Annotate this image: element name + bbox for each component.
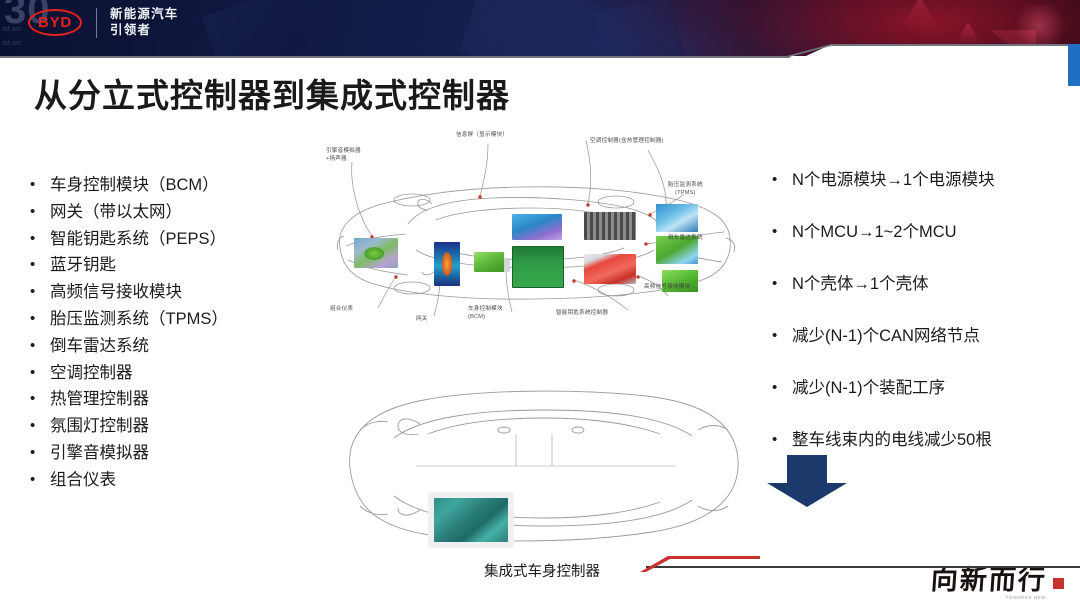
component-chip-integrated-controller [434,498,508,542]
banner-triangle-decor [955,22,981,44]
list-item: •车身控制模块（BCM） [30,172,320,199]
blue-accent-tab [1068,44,1080,86]
label-bcm: 车身控制模块 (BCM) [468,306,503,321]
bullet-glyph: • [30,306,50,333]
bullet-glyph: • [772,326,792,346]
bullet-glyph: • [772,170,792,190]
bullet-glyph: • [30,333,50,360]
bullet-glyph: • [772,222,792,242]
component-chip-tpms [656,204,698,232]
list-item-label: 蓝牙钥匙 [50,252,116,279]
list-item-label: 倒车雷达系统 [50,333,149,360]
component-chip-bcm [512,246,564,288]
bullet-glyph: • [30,386,50,413]
label-hvac-prefix: 空调控制器( [590,138,621,144]
bullet-glyph: • [30,440,50,467]
right-bullet-list: •N个电源模块→1个电源模块 •N个MCU→1~2个MCU •N个壳体→1个壳体… [772,170,1072,482]
list-item-label: 车身控制模块（BCM） [50,172,219,199]
list-item-label: 引擎音模拟器 [50,440,149,467]
bullet-glyph: • [30,199,50,226]
component-chip-peps [584,254,636,284]
transformation-arrow-icon [765,455,849,507]
component-chip-cluster [434,242,460,286]
footer-brand-subtext: TOWARDS NEW [1006,595,1046,600]
list-item: •高频信号接收模块 [30,279,320,306]
label-hvac-thermal: 含热管理控制器 [621,138,662,144]
list-item-label: 组合仪表 [50,467,116,494]
list-item: •热管理控制器 [30,386,320,413]
footer-brand-text: 向新而行 [930,558,1049,597]
list-item: •减少(N-1)个CAN网络节点 [772,326,1072,346]
list-item: •智能钥匙系统（PEPS） [30,226,320,253]
architecture-diagram: 引擎音模拟器 +扬声器 信息屏（显示模块） 空调控制器(含热管理控制器) 胎压监… [316,120,768,580]
list-item-label: 网关（带以太网） [50,199,182,226]
label-engine-sound: 引擎音模拟器 +扬声器 [326,148,361,163]
label-cluster: 组合仪表 [330,306,353,314]
list-item: •组合仪表 [30,467,320,494]
list-item-label: 高频信号接收模块 [50,279,182,306]
list-item: •倒车雷达系统 [30,333,320,360]
header-rule-diagonal [786,44,838,57]
component-chip-engine-sound [354,238,398,268]
bullet-glyph: • [30,467,50,494]
bullet-glyph: • [30,226,50,253]
label-hvac-controller: 空调控制器(含热管理控制器) [590,138,664,146]
bullet-glyph: • [30,279,50,306]
label-peps: 智能钥匙系统控制器 [556,310,608,318]
bullet-glyph: • [772,430,792,450]
list-item: •N个电源模块→1个电源模块 [772,170,1072,190]
list-item-label: 热管理控制器 [50,386,149,413]
header-rule-left [0,56,790,58]
list-item: •空调控制器 [30,360,320,387]
list-item-label: 整车线束内的电线减少50根 [792,430,992,450]
left-bullet-list: •车身控制模块（BCM） •网关（带以太网） •智能钥匙系统（PEPS） •蓝牙… [30,172,320,494]
footer-brand-seal [1053,578,1064,589]
list-item-label: 空调控制器 [50,360,133,387]
list-item-label: 智能钥匙系统（PEPS） [50,226,226,253]
list-item: •N个MCU→1~2个MCU [772,222,1072,242]
list-item-label: 胎压监测系统（TPMS） [50,306,228,333]
list-item: •整车线束内的电线减少50根 [772,430,1072,450]
component-chip-connector [584,212,636,240]
list-item: •引擎音模拟器 [30,440,320,467]
page-title: 从分立式控制器到集成式控制器 [34,69,510,117]
label-tpms: 胎压监测系统 (TPMS) [668,182,703,197]
logo-divider [96,8,97,38]
byd-logo: BYD [28,9,82,36]
list-item: •减少(N-1)个装配工序 [772,378,1072,398]
bullet-glyph: • [30,413,50,440]
label-gateway: 网关 [416,316,428,324]
list-item: •氛围灯控制器 [30,413,320,440]
component-chip-gateway [474,252,504,272]
banner-triangle-decor [900,0,940,30]
list-item: •蓝牙钥匙 [30,252,320,279]
bullet-glyph: • [772,378,792,398]
footer-brand-logo: 向新而行 [912,556,1064,598]
bullet-glyph: • [30,172,50,199]
bullet-glyph: • [30,360,50,387]
ghost-watermark-text: od.sm [2,40,21,47]
list-item: •N个壳体→1个壳体 [772,274,1072,294]
byd-tagline: 新能源汽车 引领者 [110,6,179,38]
bullet-glyph: • [772,274,792,294]
list-item-label: N个MCU→1~2个MCU [792,222,957,242]
banner-polygon-decor [459,0,600,56]
ghost-watermark-text: od.sm [2,26,21,33]
list-item-label: 减少(N-1)个CAN网络节点 [792,326,980,346]
bullet-glyph: • [30,252,50,279]
banner-polygon-decor [594,0,687,56]
list-item-label: 减少(N-1)个装配工序 [792,378,945,398]
banner-polygon-decor [202,0,308,56]
byd-logo-text: BYD [38,14,72,31]
list-item: •胎压监测系统（TPMS） [30,306,320,333]
tagline-line-2: 引领者 [110,22,179,38]
list-item-label: 氛围灯控制器 [50,413,149,440]
component-chip-info-screen [512,214,562,240]
tagline-line-1: 新能源汽车 [110,6,179,22]
list-item-label: N个电源模块→1个电源模块 [792,170,995,190]
footer-red-accent [640,556,760,572]
lower-car-illustration [316,378,768,558]
label-hvac-suffix: ) [662,138,664,144]
header-rule-right [832,44,1080,46]
list-item-label: N个壳体→1个壳体 [792,274,929,294]
label-info-screen: 信息屏（显示模块） [456,132,508,140]
banner-glow-decor [1010,4,1070,48]
list-item: •网关（带以太网） [30,199,320,226]
label-parking-radar: 倒车雷达系统 [668,235,703,243]
label-rf-receiver: 高频信号接收模块 [644,284,690,292]
